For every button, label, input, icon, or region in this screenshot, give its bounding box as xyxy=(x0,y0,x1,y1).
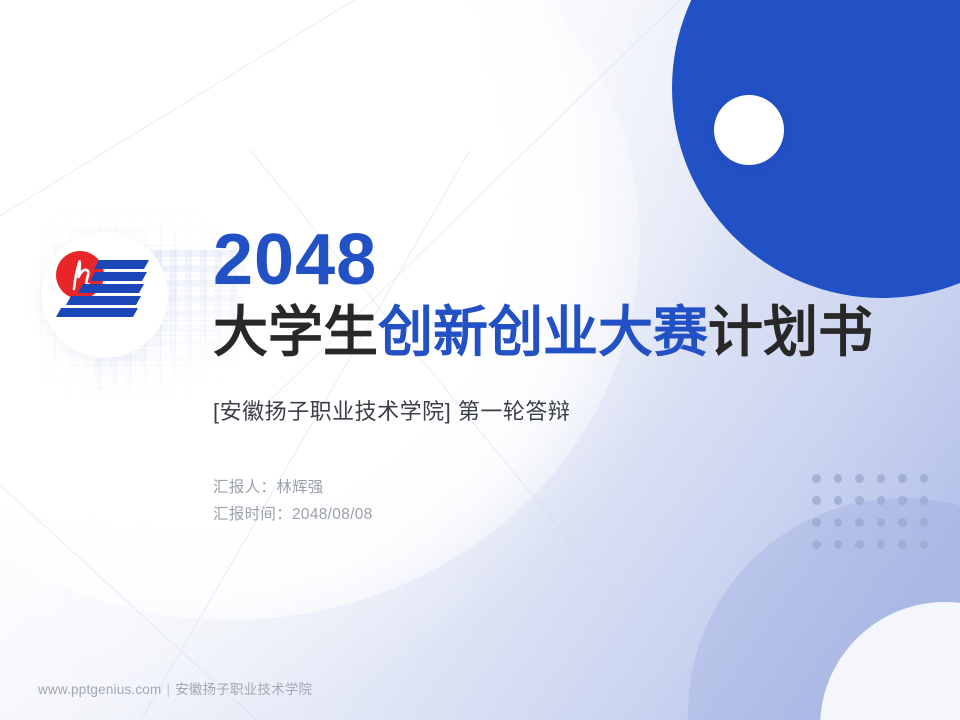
page-title: 大学生创新创业大赛计划书 xyxy=(213,302,913,364)
presenter-name-line: 汇报人：林辉强 xyxy=(213,474,913,501)
subtitle: [安徽扬子职业技术学院] 第一轮答辩 xyxy=(213,394,913,426)
presentation-slide: 2048 大学生创新创业大赛计划书 [安徽扬子职业技术学院] 第一轮答辩 汇报人… xyxy=(0,0,960,720)
title-text-block: 2048 大学生创新创业大赛计划书 [安徽扬子职业技术学院] 第一轮答辩 汇报人… xyxy=(213,222,913,528)
page-title-segment-1: 大学生 xyxy=(213,301,378,363)
college-logo-icon xyxy=(52,249,156,325)
presentation-date-line: 汇报时间：2048/08/08 xyxy=(213,501,913,528)
presenter-meta-block: 汇报人：林辉强 汇报时间：2048/08/08 xyxy=(213,474,913,528)
page-title-segment-3: 计划书 xyxy=(708,301,873,363)
decorative-white-dot xyxy=(714,95,784,165)
footer: www.pptgenius.com|安徽扬子职业技术学院 xyxy=(38,678,312,698)
footer-organization: 安徽扬子职业技术学院 xyxy=(175,682,312,697)
page-title-segment-2: 创新创业大赛 xyxy=(378,301,708,363)
footer-separator: | xyxy=(166,682,170,697)
footer-website: www.pptgenius.com xyxy=(38,682,161,697)
year-heading: 2048 xyxy=(213,222,913,298)
